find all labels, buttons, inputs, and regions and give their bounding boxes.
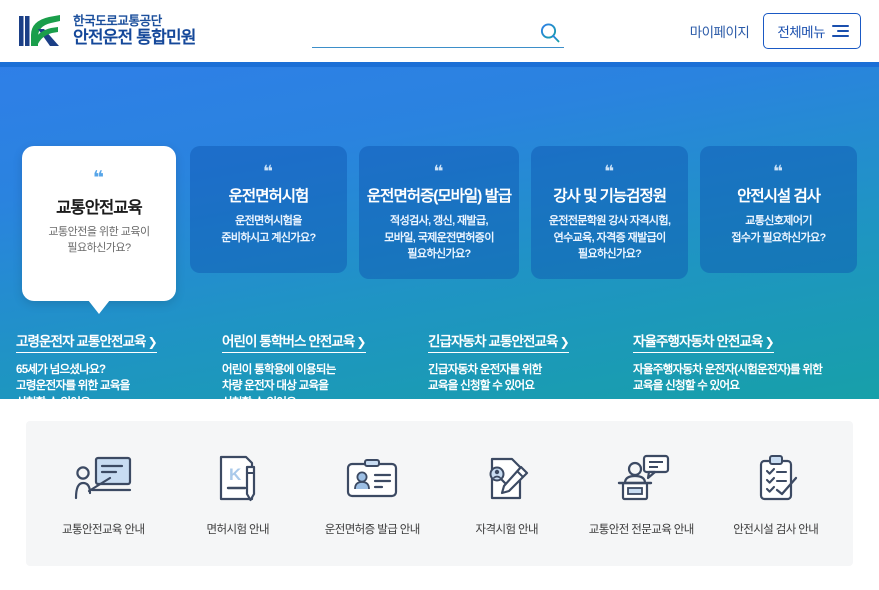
hero-link-label: 어린이 통학버스 안전교육 bbox=[222, 330, 354, 350]
hero-link-desc: 65세가 넘으셨나요? 고령운전자를 위한 교육을 신청할 수 있어요 bbox=[16, 362, 212, 411]
quote-mark-icon: ❝ bbox=[367, 164, 511, 179]
card-sub-line: 필요하신가요? bbox=[367, 246, 511, 263]
search-bar[interactable] bbox=[312, 14, 564, 48]
quick-item-license-exam-guide[interactable]: K 면허시험 안내 bbox=[171, 451, 306, 537]
site-header: 한국도로교통공단 안전운전 통합민원 마이페이지 전체메뉴 bbox=[0, 0, 879, 62]
desc-line: 교육을 신청할 수 있어요 bbox=[633, 378, 853, 394]
chevron-right-icon: ❯ bbox=[148, 335, 157, 349]
hero-link-desc: 어린이 통학용에 이용되는 차량 운전자 대상 교육을 신청할 수 있어요 bbox=[222, 362, 418, 411]
quick-item-label: 운전면허증 발급 안내 bbox=[325, 521, 420, 537]
card-sub-line: 교통신호제어기 bbox=[708, 213, 849, 230]
card-subtitle: 운전면허시험을 준비하시고 계신가요? bbox=[198, 213, 339, 246]
hero-link-school-bus: 어린이 통학버스 안전교육 ❯ 어린이 통학용에 이용되는 차량 운전자 대상 … bbox=[222, 330, 428, 411]
desc-line: 자율주행자동차 운전자(시험운전자)를 위한 bbox=[633, 362, 853, 378]
card-sub-line: 운전면허시험을 bbox=[198, 213, 339, 230]
hero-link-emergency-vehicle: 긴급자동차 교통안전교육 ❯ 긴급자동차 운전자를 위한 교육을 신청할 수 있… bbox=[428, 330, 633, 411]
service-card-instructor[interactable]: ❝ 강사 및 기능검정원 운전전문학원 강사 자격시험, 연수교육, 자격증 재… bbox=[531, 146, 688, 279]
full-menu-label: 전체메뉴 bbox=[777, 21, 825, 41]
document-person-pencil-icon bbox=[479, 451, 535, 507]
id-card-icon bbox=[342, 451, 402, 507]
exam-paper-pencil-icon: K bbox=[210, 451, 266, 507]
quick-menu-section: 교통안전교육 안내 K 면허시험 안내 bbox=[0, 399, 879, 590]
teacher-whiteboard-icon bbox=[72, 451, 134, 507]
search-icon bbox=[538, 21, 562, 45]
search-input[interactable] bbox=[312, 27, 538, 47]
hero-link-title[interactable]: 긴급자동차 교통안전교육 ❯ bbox=[428, 330, 569, 353]
card-sub-line: 연수교육, 자격증 재발급이 bbox=[539, 230, 680, 247]
lecturer-podium-icon bbox=[611, 451, 671, 507]
quote-mark-icon: ❝ bbox=[198, 164, 339, 179]
card-sub-line: 모바일, 국제운전면허증이 bbox=[367, 230, 511, 247]
featured-sub-line: 필요하신가요? bbox=[34, 241, 164, 257]
card-sub-line: 준비하시고 계신가요? bbox=[198, 230, 339, 247]
service-cards-row: ❝ 교통안전교육 교통안전을 위한 교육이 필요하신가요? ❝ 운전면허시험 운… bbox=[0, 146, 879, 301]
hero-link-senior-driver: 고령운전자 교통안전교육 ❯ 65세가 넘으셨나요? 고령운전자를 위한 교육을… bbox=[16, 330, 222, 411]
logo-service-name: 안전운전 통합민원 bbox=[73, 28, 196, 47]
quick-item-label: 교통안전교육 안내 bbox=[62, 521, 144, 537]
quote-mark-icon: ❝ bbox=[539, 164, 680, 179]
kotsa-k-logo-icon bbox=[18, 11, 64, 51]
chevron-right-icon: ❯ bbox=[560, 335, 569, 349]
desc-line: 긴급자동차 운전자를 위한 bbox=[428, 362, 623, 378]
quick-menu-panel: 교통안전교육 안내 K 면허시험 안내 bbox=[26, 421, 853, 566]
quick-item-professional-education-guide[interactable]: 교통안전 전문교육 안내 bbox=[574, 451, 709, 537]
card-subtitle: 교통신호제어기 접수가 필요하신가요? bbox=[708, 213, 849, 246]
hero-link-title[interactable]: 어린이 통학버스 안전교육 ❯ bbox=[222, 330, 366, 353]
chevron-right-icon: ❯ bbox=[765, 335, 774, 349]
hero-link-desc: 긴급자동차 운전자를 위한 교육을 신청할 수 있어요 bbox=[428, 362, 623, 395]
hero-link-label: 고령운전자 교통안전교육 bbox=[16, 330, 146, 350]
quick-item-facility-inspection-guide[interactable]: 안전시설 검사 안내 bbox=[709, 451, 844, 537]
service-card-facility-inspection[interactable]: ❝ 안전시설 검사 교통신호제어기 접수가 필요하신가요? bbox=[700, 146, 857, 273]
mypage-link[interactable]: 마이페이지 bbox=[690, 21, 750, 41]
hero-link-title[interactable]: 자율주행자동차 안전교육 ❯ bbox=[633, 330, 774, 353]
quote-mark-icon: ❝ bbox=[708, 164, 849, 179]
hero-link-autonomous-vehicle: 자율주행자동차 안전교육 ❯ 자율주행자동차 운전자(시험운전자)를 위한 교육… bbox=[633, 330, 863, 411]
card-sub-line: 필요하신가요? bbox=[539, 246, 680, 263]
quote-mark-icon: ❝ bbox=[34, 170, 164, 187]
hero-link-label: 자율주행자동차 안전교육 bbox=[633, 330, 763, 350]
hamburger-icon bbox=[832, 25, 849, 38]
featured-card-title: 교통안전교육 bbox=[34, 194, 164, 218]
hero-top-accent-bar bbox=[0, 62, 879, 67]
card-subtitle: 적성검사, 갱신, 재발급, 모바일, 국제운전면허증이 필요하신가요? bbox=[367, 213, 511, 263]
hero-section: ❝ 교통안전교육 교통안전을 위한 교육이 필요하신가요? ❝ 운전면허시험 운… bbox=[0, 62, 879, 399]
card-subtitle: 운전전문학원 강사 자격시험, 연수교육, 자격증 재발급이 필요하신가요? bbox=[539, 213, 680, 263]
hero-link-desc: 자율주행자동차 운전자(시험운전자)를 위한 교육을 신청할 수 있어요 bbox=[633, 362, 853, 395]
card-sub-line: 적성검사, 갱신, 재발급, bbox=[367, 213, 511, 230]
clipboard-checklist-icon bbox=[748, 451, 804, 507]
desc-line: 65세가 넘으셨나요? bbox=[16, 362, 212, 378]
card-title: 강사 및 기능검정원 bbox=[539, 184, 680, 206]
quick-item-license-issue-guide[interactable]: 운전면허증 발급 안내 bbox=[305, 451, 440, 537]
featured-sub-line: 교통안전을 위한 교육이 bbox=[34, 225, 164, 241]
featured-card-subtitle: 교통안전을 위한 교육이 필요하신가요? bbox=[34, 225, 164, 257]
card-title: 안전시설 검사 bbox=[708, 184, 849, 206]
chevron-right-icon: ❯ bbox=[356, 335, 365, 349]
desc-line: 차량 운전자 대상 교육을 bbox=[222, 378, 418, 394]
quick-item-label: 교통안전 전문교육 안내 bbox=[589, 521, 694, 537]
desc-line: 교육을 신청할 수 있어요 bbox=[428, 378, 623, 394]
quick-item-qualification-exam-guide[interactable]: 자격시험 안내 bbox=[440, 451, 575, 537]
service-card-license-exam[interactable]: ❝ 운전면허시험 운전면허시험을 준비하시고 계신가요? bbox=[190, 146, 347, 273]
desc-line: 어린이 통학용에 이용되는 bbox=[222, 362, 418, 378]
hero-link-label: 긴급자동차 교통안전교육 bbox=[428, 330, 558, 350]
quick-item-label: 자격시험 안내 bbox=[476, 521, 538, 537]
desc-line: 고령운전자를 위한 교육을 bbox=[16, 378, 212, 394]
card-sub-line: 운전전문학원 강사 자격시험, bbox=[539, 213, 680, 230]
service-card-license-issue[interactable]: ❝ 운전면허증(모바일) 발급 적성검사, 갱신, 재발급, 모바일, 국제운전… bbox=[359, 146, 519, 279]
full-menu-button[interactable]: 전체메뉴 bbox=[763, 13, 861, 49]
desc-line: 신청할 수 있어요 bbox=[16, 395, 212, 411]
header-utility-nav: 마이페이지 전체메뉴 bbox=[690, 0, 861, 62]
card-sub-line: 접수가 필요하신가요? bbox=[708, 230, 849, 247]
quick-item-label: 안전시설 검사 안내 bbox=[733, 521, 818, 537]
service-card-featured[interactable]: ❝ 교통안전교육 교통안전을 위한 교육이 필요하신가요? bbox=[22, 146, 176, 301]
quick-item-traffic-safety-education[interactable]: 교통안전교육 안내 bbox=[36, 451, 171, 537]
quick-item-label: 면허시험 안내 bbox=[207, 521, 269, 537]
hero-link-title[interactable]: 고령운전자 교통안전교육 ❯ bbox=[16, 330, 157, 353]
card-title: 운전면허시험 bbox=[198, 184, 339, 206]
desc-line: 신청할 수 있어요 bbox=[222, 395, 418, 411]
card-title: 운전면허증(모바일) 발급 bbox=[367, 184, 511, 206]
hero-links-row: 고령운전자 교통안전교육 ❯ 65세가 넘으셨나요? 고령운전자를 위한 교육을… bbox=[0, 330, 879, 411]
site-logo[interactable]: 한국도로교통공단 안전운전 통합민원 bbox=[18, 11, 196, 51]
logo-org-name: 한국도로교통공단 bbox=[73, 14, 196, 28]
svg-text:K: K bbox=[229, 465, 242, 484]
search-button[interactable] bbox=[538, 21, 564, 47]
